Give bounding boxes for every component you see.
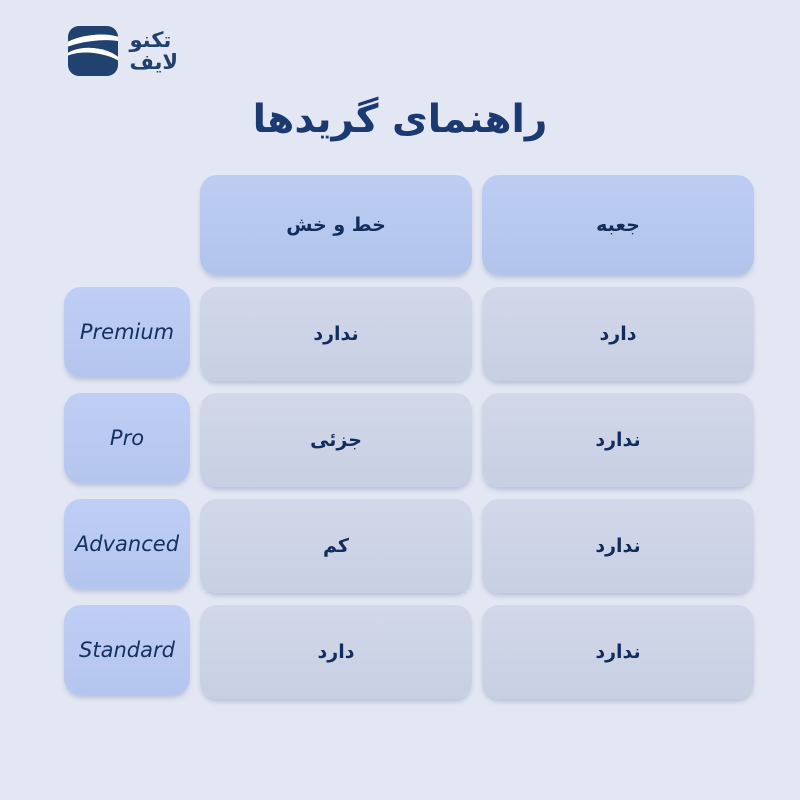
- cell-scratches-advanced: کم: [200, 499, 472, 593]
- grade-label-pro: Pro: [64, 393, 190, 483]
- brand-name-line-1: تکنو: [129, 29, 171, 51]
- grade-label-advanced: Advanced: [64, 499, 190, 589]
- grade-guide-infographic: { "brand": { "name_line1": "تکنو", "name…: [0, 0, 800, 800]
- brand-name-line-2: لایف: [129, 51, 178, 73]
- grade-label-premium: Premium: [64, 287, 190, 377]
- cell-scratches-standard: دارد: [200, 605, 472, 699]
- brand-logo: تکنو لایف: [68, 26, 178, 76]
- grade-comparison-table: جعبه خط و خش دارد ندارد Premium ندارد جز…: [62, 175, 754, 699]
- header-grade-spacer: [64, 175, 190, 275]
- cell-box-premium: دارد: [482, 287, 754, 381]
- grade-label-standard: Standard: [64, 605, 190, 695]
- table-row: ندارد دارد Standard: [62, 605, 754, 699]
- cell-box-standard: ندارد: [482, 605, 754, 699]
- column-header-scratches: خط و خش: [200, 175, 472, 275]
- table-row: ندارد جزئی Pro: [62, 393, 754, 487]
- brand-name: تکنو لایف: [129, 29, 178, 74]
- table-row: ندارد کم Advanced: [62, 499, 754, 593]
- page-title: راهنمای گریدها: [0, 97, 800, 142]
- cell-box-pro: ندارد: [482, 393, 754, 487]
- cell-scratches-premium: ندارد: [200, 287, 472, 381]
- cell-box-advanced: ندارد: [482, 499, 754, 593]
- techno-life-swoosh-logo-icon: [68, 26, 118, 76]
- table-row: دارد ندارد Premium: [62, 287, 754, 381]
- cell-scratches-pro: جزئی: [200, 393, 472, 487]
- table-header-row: جعبه خط و خش: [62, 175, 754, 275]
- column-header-box: جعبه: [482, 175, 754, 275]
